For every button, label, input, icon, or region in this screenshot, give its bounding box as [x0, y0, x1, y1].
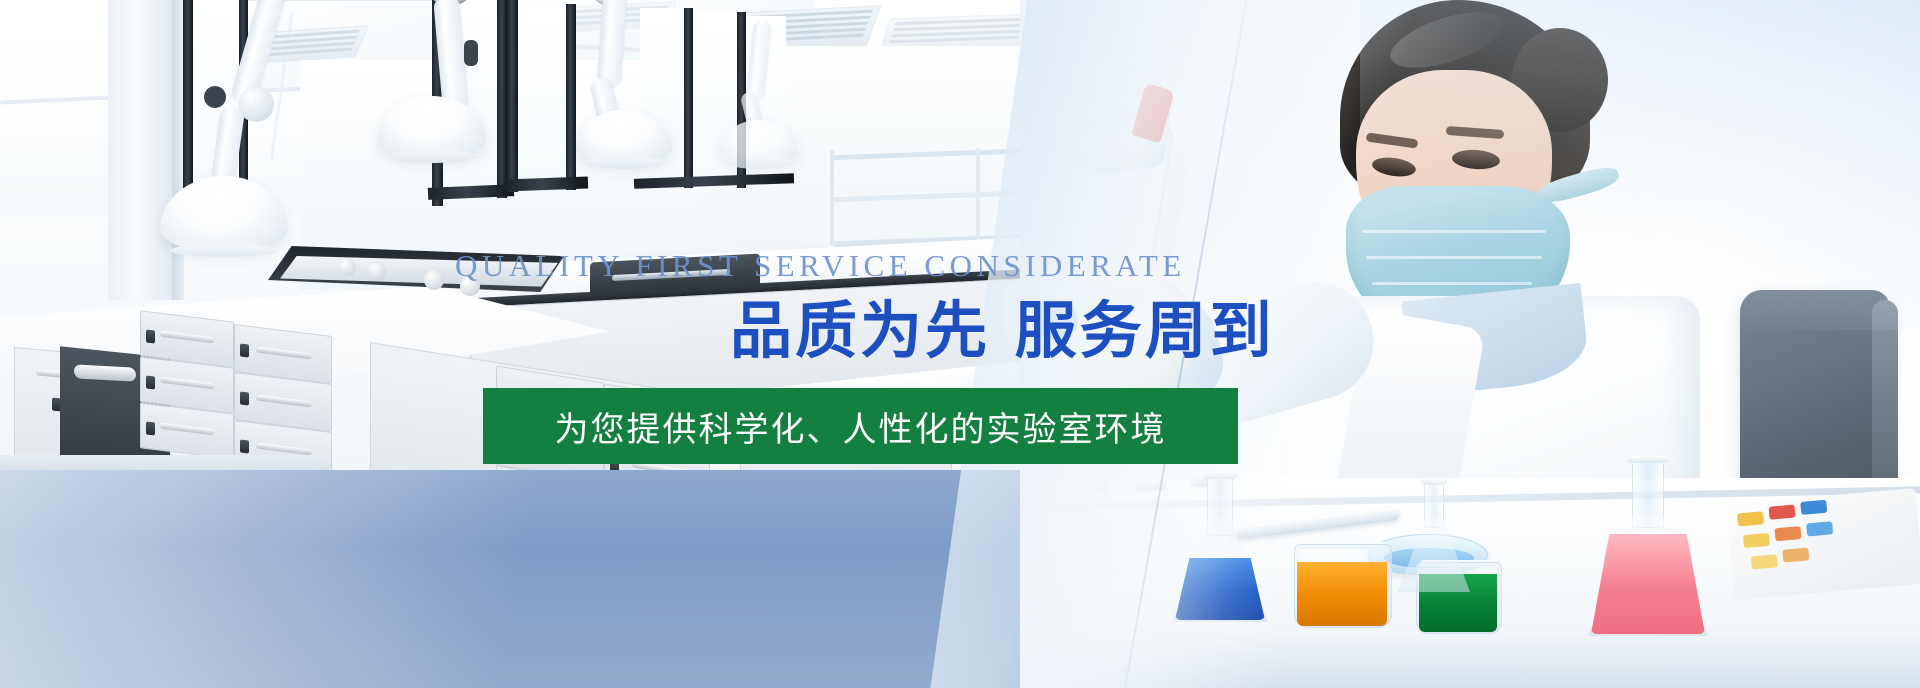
subtitle-text: 为您提供科学化、人性化的实验室环境 [483, 388, 1238, 464]
banner-text-block: QUALITY FIRST SERVICE CONSIDERATE 品质为先 服… [0, 0, 1920, 688]
subtitle-bar: 为您提供科学化、人性化的实验室环境 [483, 388, 1238, 464]
english-tagline: QUALITY FIRST SERVICE CONSIDERATE [455, 248, 1186, 284]
banner-headline: 品质为先 服务周到 [730, 300, 1275, 362]
promo-banner: QUALITY FIRST SERVICE CONSIDERATE 品质为先 服… [0, 0, 1920, 688]
